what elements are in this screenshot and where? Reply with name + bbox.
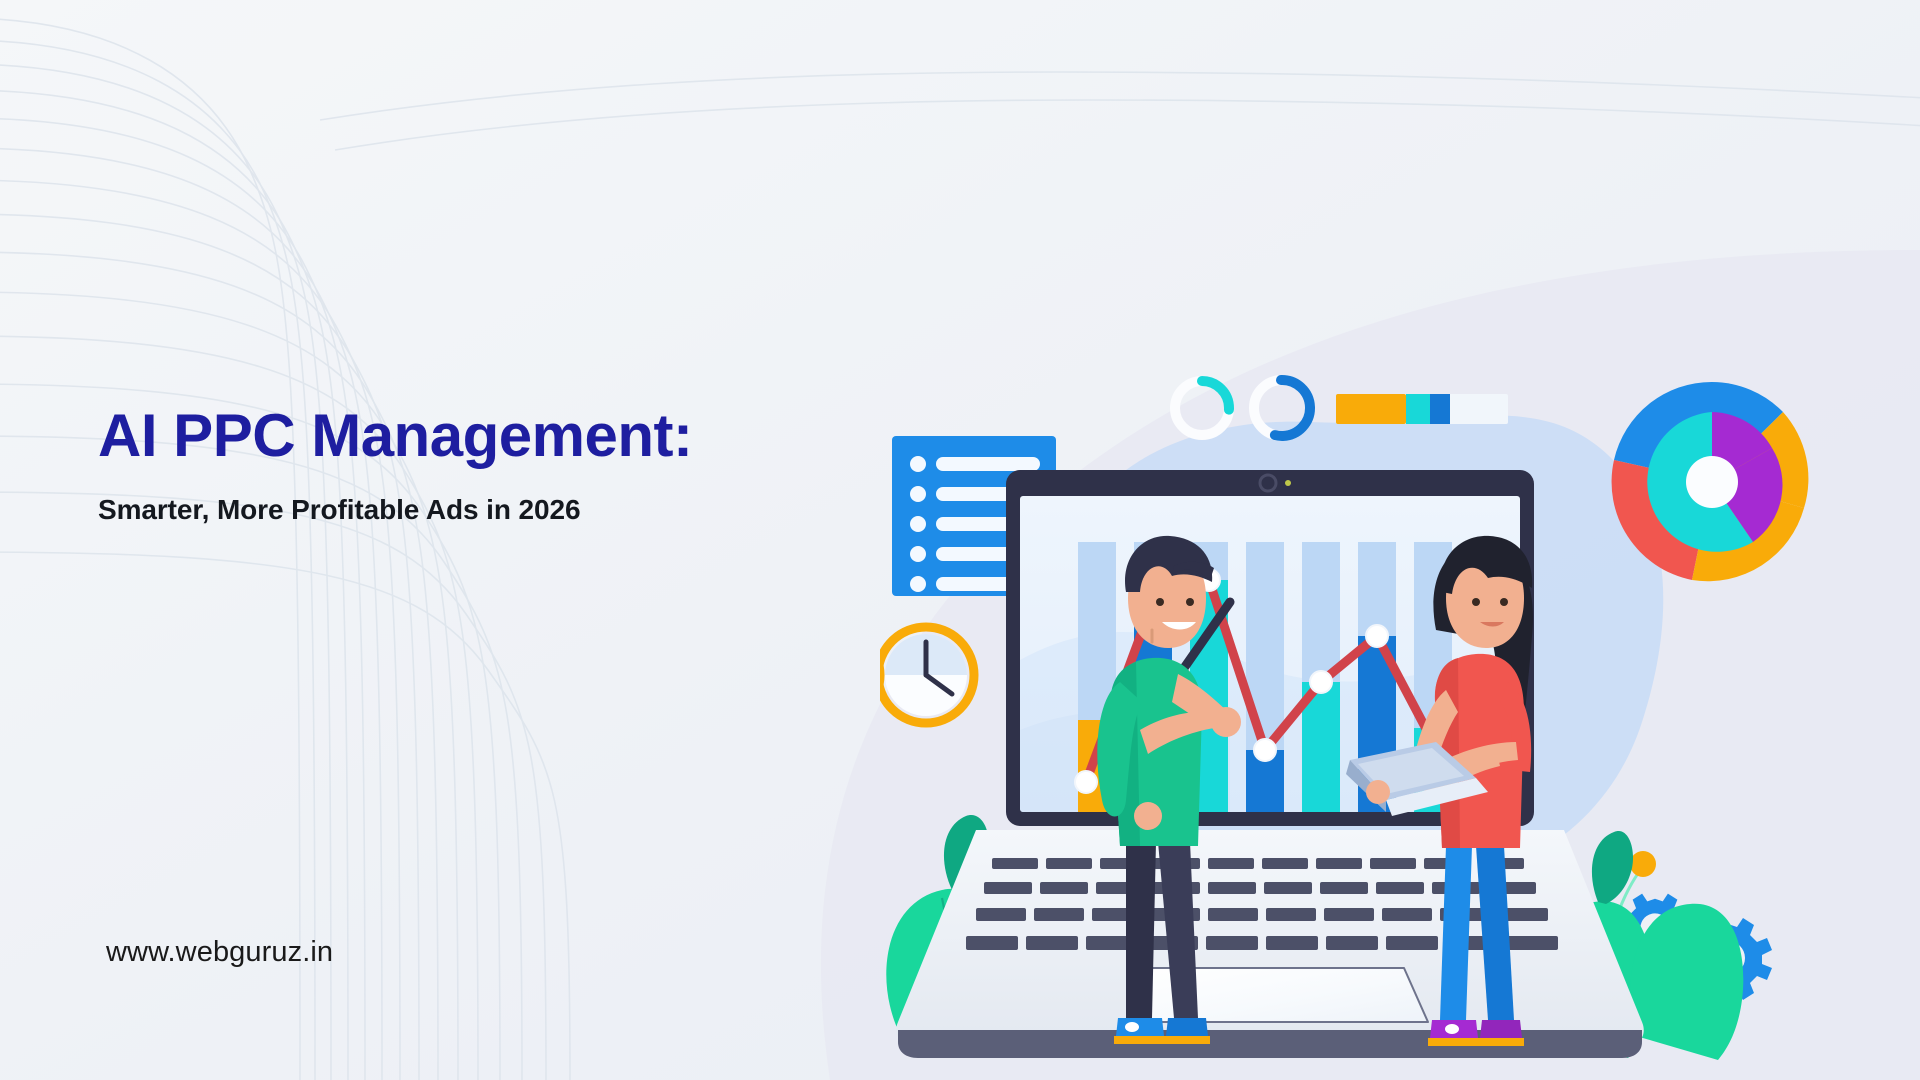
hand — [1366, 780, 1390, 804]
hand — [1211, 707, 1241, 737]
copy-block: AI PPC Management: Smarter, More Profita… — [98, 404, 928, 527]
shoe — [1480, 1020, 1522, 1038]
flower-bud — [1630, 851, 1656, 877]
segmented-progress-bar — [1336, 394, 1508, 424]
donut-ring-cyan — [1175, 381, 1229, 435]
shoe — [1166, 1018, 1208, 1036]
page-title: AI PPC Management: — [98, 404, 928, 467]
ppc-analytics-illustration — [880, 330, 1920, 1080]
webcam-dot — [1285, 480, 1291, 486]
laptop-base — [896, 830, 1644, 1058]
banner-canvas: AI PPC Management: Smarter, More Profita… — [0, 0, 1920, 1080]
hand — [1134, 802, 1162, 830]
page-subtitle: Smarter, More Profitable Ads in 2026 — [98, 493, 928, 527]
clock — [880, 627, 974, 723]
multi-ring-pie-chart — [1612, 382, 1809, 581]
website-url: www.webguruz.in — [106, 936, 333, 969]
shoe — [1116, 1018, 1164, 1036]
